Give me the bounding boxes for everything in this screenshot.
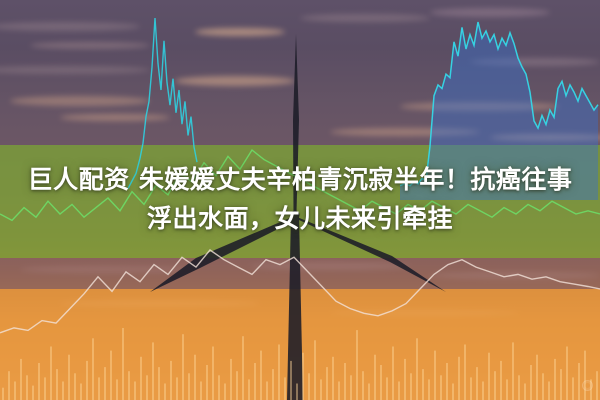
circle-watermark-icon	[582, 380, 593, 391]
headline-text: 巨人配资 朱媛媛丈夫辛柏青沉寂半年！抗癌往事 浮出水面，女儿未来引牵挂	[0, 160, 600, 238]
white-line	[0, 250, 600, 333]
banner-image: 巨人配资 朱媛媛丈夫辛柏青沉寂半年！抗癌往事 浮出水面，女儿未来引牵挂	[0, 0, 600, 400]
volume-bars	[3, 328, 597, 400]
headline-line-2: 浮出水面，女儿未来引牵挂	[0, 199, 600, 238]
headline-line-1: 巨人配资 朱媛媛丈夫辛柏青沉寂半年！抗癌往事	[0, 160, 600, 199]
